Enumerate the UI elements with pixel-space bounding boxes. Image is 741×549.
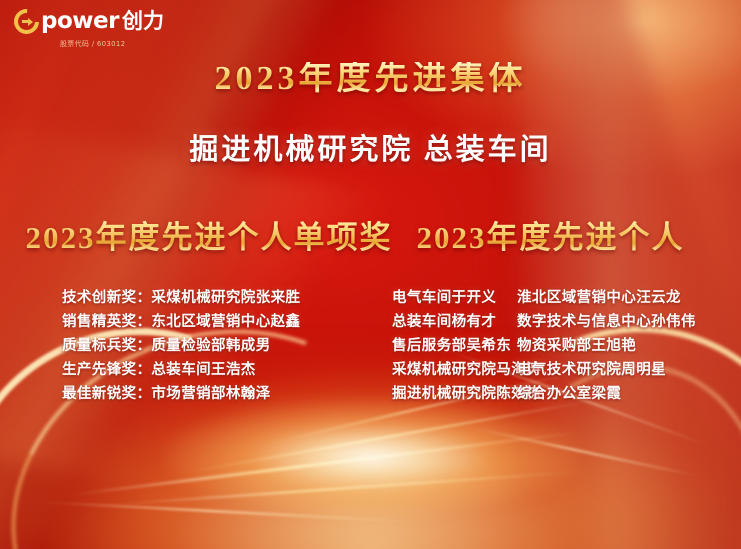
- list-item-col1: 总装车间杨有才: [392, 310, 517, 334]
- list-item: 质量标兵奖：质量检验部韩成男: [62, 334, 362, 358]
- heading-individual-awards: 2023年度先进个人: [398, 216, 703, 259]
- list-item-col1: 电气车间于开义: [392, 286, 517, 310]
- page-title: 2023年度先进集体: [0, 62, 741, 96]
- list-item: 技术创新奖：采煤机械研究院张来胜: [62, 286, 362, 310]
- list-item-col2: 物资采购部王旭艳: [517, 334, 636, 358]
- list-item-col1: 采煤机械研究院马海涛: [392, 358, 517, 382]
- power-circle-logo-icon: [14, 9, 39, 34]
- logo-wordmark-cn: 创力: [122, 11, 164, 32]
- list-item: 售后服务部吴希东 物资采购部王旭艳: [392, 334, 722, 358]
- list-item-col1: 售后服务部吴希东: [392, 334, 517, 358]
- list-item: 销售精英奖：东北区域营销中心赵鑫: [62, 310, 362, 334]
- list-item-col2: 数字技术与信息中心孙伟伟: [517, 310, 696, 334]
- special-awards-list: 技术创新奖：采煤机械研究院张来胜 销售精英奖：东北区域营销中心赵鑫 质量标兵奖：…: [62, 286, 362, 406]
- award-poster: power 创力 股票代码 / 603012 2023年度先进集体 掘进机械研究…: [0, 0, 741, 549]
- list-item: 总装车间杨有才 数字技术与信息中心孙伟伟: [392, 310, 722, 334]
- list-item: 掘进机械研究院陈效栋 综合办公室梁霞: [392, 382, 722, 406]
- logo-row: power 创力: [14, 9, 164, 34]
- list-item-col2: 电气技术研究院周明星: [517, 358, 666, 382]
- heading-special-awards: 2023年度先进个人单项奖: [24, 216, 394, 259]
- list-item: 采煤机械研究院马海涛 电气技术研究院周明星: [392, 358, 722, 382]
- company-logo: power 创力 股票代码 / 603012: [14, 9, 164, 49]
- logo-wordmark: power: [41, 10, 119, 33]
- stock-code-label: 股票代码 / 603012: [60, 39, 125, 49]
- list-item: 最佳新锐奖：市场营销部林翰泽: [62, 382, 362, 406]
- list-item: 电气车间于开义 淮北区域营销中心汪云龙: [392, 286, 722, 310]
- list-item-col2: 综合办公室梁霞: [517, 382, 621, 406]
- list-item-col1: 掘进机械研究院陈效栋: [392, 382, 517, 406]
- list-item-col2: 淮北区域营销中心汪云龙: [517, 286, 681, 310]
- page-subtitle: 掘进机械研究院 总装车间: [0, 136, 741, 165]
- section-headings: 2023年度先进个人单项奖 2023年度先进个人: [0, 216, 741, 262]
- list-item: 生产先锋奖：总装车间王浩杰: [62, 358, 362, 382]
- individual-awards-list: 电气车间于开义 淮北区域营销中心汪云龙 总装车间杨有才 数字技术与信息中心孙伟伟…: [392, 286, 722, 406]
